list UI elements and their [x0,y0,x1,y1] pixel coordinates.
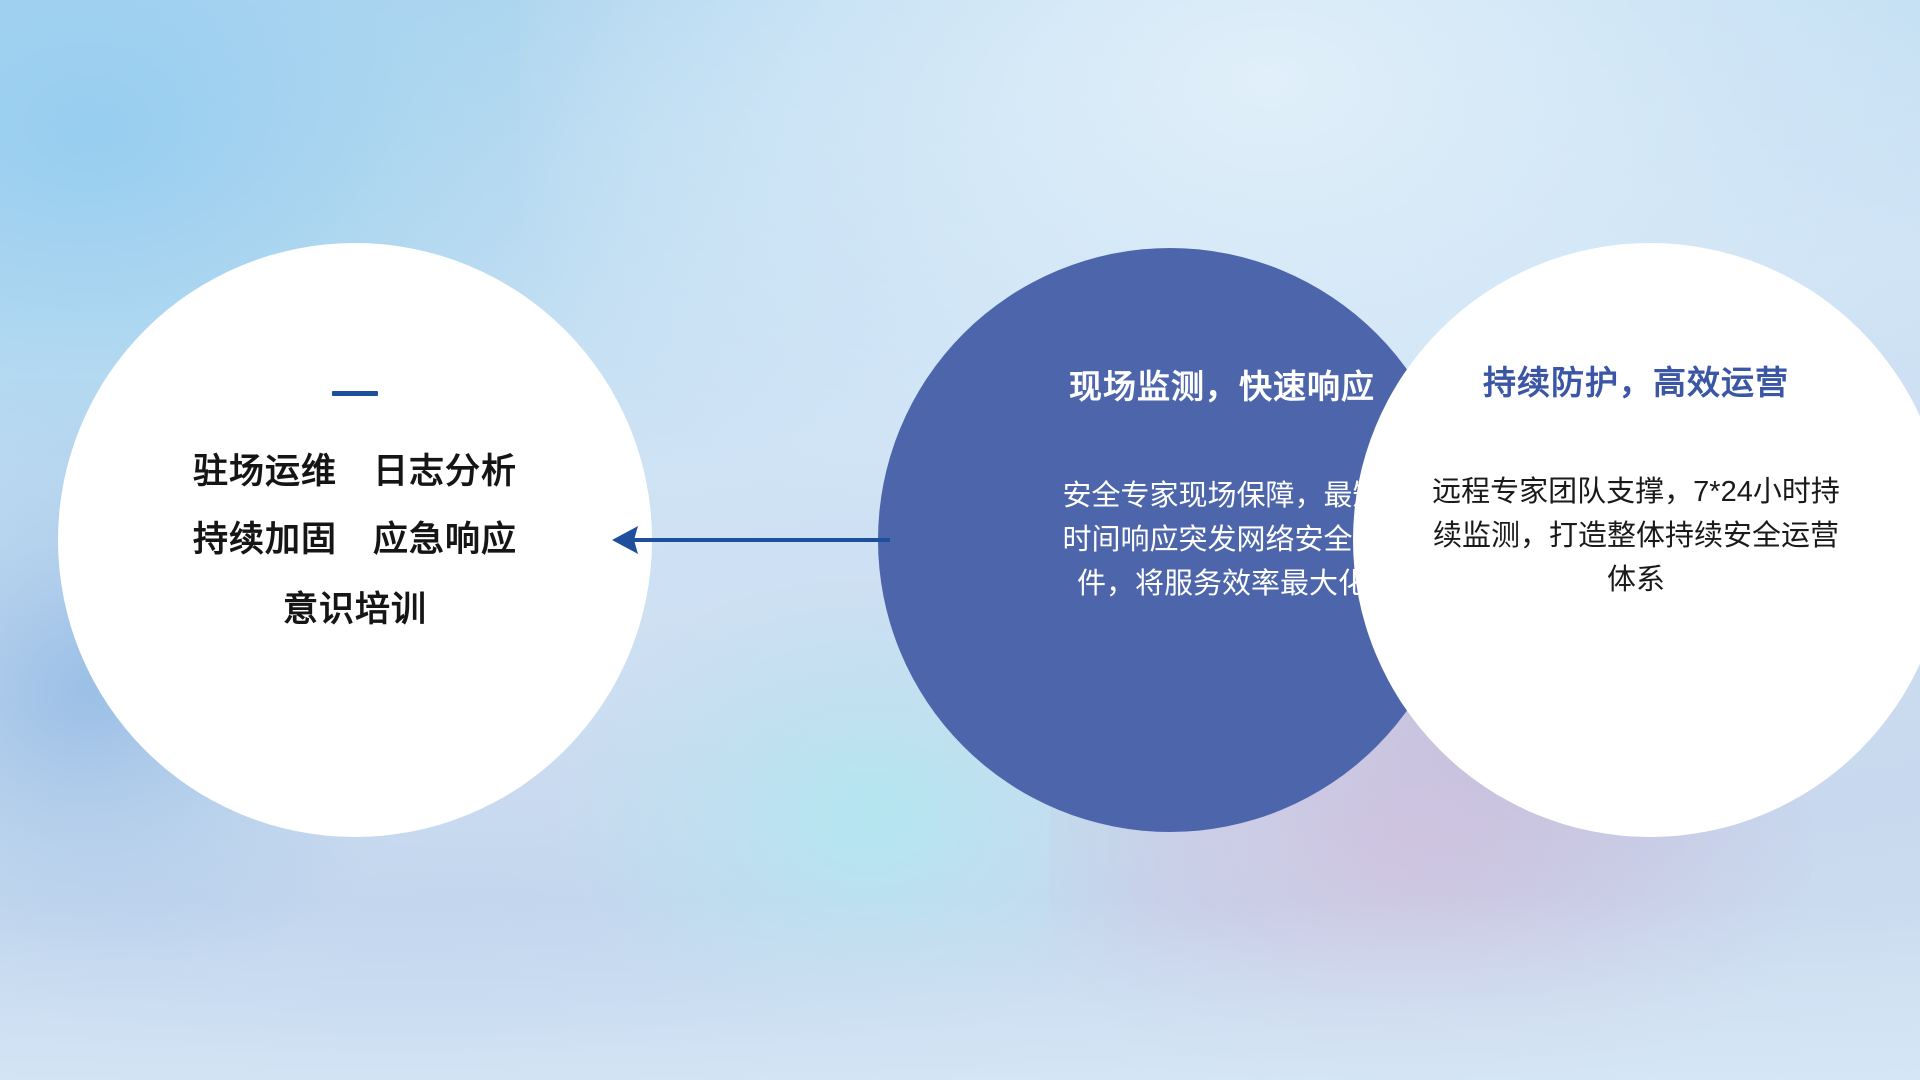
left-circle-divider [332,391,378,396]
left-circle-line-1: 驻场运维 日志分析 [193,454,517,491]
left-circle-content: 驻场运维 日志分析 持续加固 应急响应 意识培训 [58,243,652,837]
slide-canvas: 驻场运维 日志分析 持续加固 应急响应 意识培训 现场监测，快速响应 安全专家现… [0,0,1920,1080]
left-circle-line-2: 持续加固 应急响应 [193,522,517,559]
left-circle-line-3: 意识培训 [283,592,427,629]
right-circle-body: 远程专家团队支撑，7*24小时持续监测，打造整体持续安全运营体系 [1426,470,1846,602]
background-glow-bottom-light [0,900,1920,1080]
right-circle-title: 持续防护，高效运营 [1483,356,1789,404]
right-circle-content: 持续防护，高效运营 远程专家团队支撑，7*24小时持续监测，打造整体持续安全运营… [1353,243,1920,837]
